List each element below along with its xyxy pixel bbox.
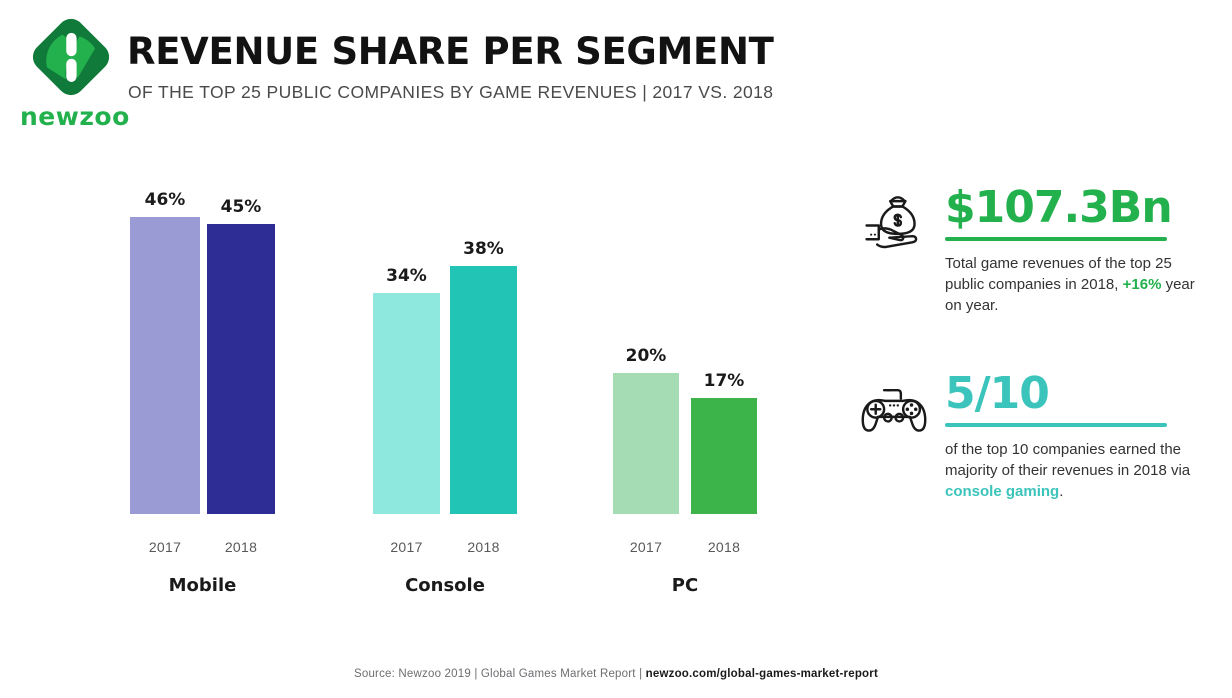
stat-description: of the top 10 companies earned the major… [945, 439, 1210, 503]
group-label-console: Console [373, 575, 517, 596]
bar-value-label: 17% [691, 371, 757, 391]
stat-text-highlight: +16% [1123, 276, 1162, 293]
stat-description: Total game revenues of the top 25 public… [945, 253, 1210, 317]
bar-value-label: 45% [207, 197, 275, 217]
group-label-mobile: Mobile [130, 575, 275, 596]
bar-pc-2018: 17% [691, 398, 757, 514]
stat-body: 5/10 of the top 10 companies earned the … [945, 372, 1210, 503]
bar-value-label: 46% [130, 190, 200, 210]
bar-value-label: 38% [450, 239, 517, 259]
stat-headline: $107.3Bn [945, 186, 1210, 231]
footer-report-link[interactable]: newzoo.com/global-games-market-report [646, 668, 878, 680]
year-label-mobile-2018: 2018 [207, 539, 275, 555]
bar-value-label: 20% [613, 346, 679, 366]
group-label-pc: PC [613, 575, 757, 596]
bar-console-2017: 34% [373, 293, 440, 514]
bar-console-2018: 38% [450, 266, 517, 514]
year-label-console-2017: 2017 [373, 539, 440, 555]
bar-chart: 46% 45% 2017 2018 Mobile 34% 38% 2017 20… [0, 0, 830, 698]
game-controller-icon [855, 378, 933, 442]
year-label-pc-2018: 2018 [691, 539, 757, 555]
year-label-console-2018: 2018 [450, 539, 517, 555]
bar-value-label: 34% [373, 266, 440, 286]
bar-mobile-2018: 45% [207, 224, 275, 514]
stat-body: $107.3Bn Total game revenues of the top … [945, 186, 1210, 317]
bar-mobile-2017: 46% [130, 217, 200, 514]
stat-text-part: . [1059, 483, 1063, 500]
stat-text-part: of the top 10 companies earned the major… [945, 441, 1190, 479]
stat-underline [945, 423, 1167, 427]
source-footer: Source: Newzoo 2019 | Global Games Marke… [0, 668, 1232, 680]
footer-source-text: Source: Newzoo 2019 | Global Games Marke… [354, 668, 646, 680]
stat-headline: 5/10 [945, 372, 1210, 417]
stat-underline [945, 237, 1167, 241]
year-label-pc-2017: 2017 [613, 539, 679, 555]
stat-text-highlight: console gaming [945, 483, 1059, 500]
year-label-mobile-2017: 2017 [130, 539, 200, 555]
bar-pc-2017: 20% [613, 373, 679, 514]
infographic-root: newzoo REVENUE SHARE PER SEGMENT OF THE … [0, 0, 1232, 698]
money-bag-in-hand-icon [855, 192, 933, 256]
